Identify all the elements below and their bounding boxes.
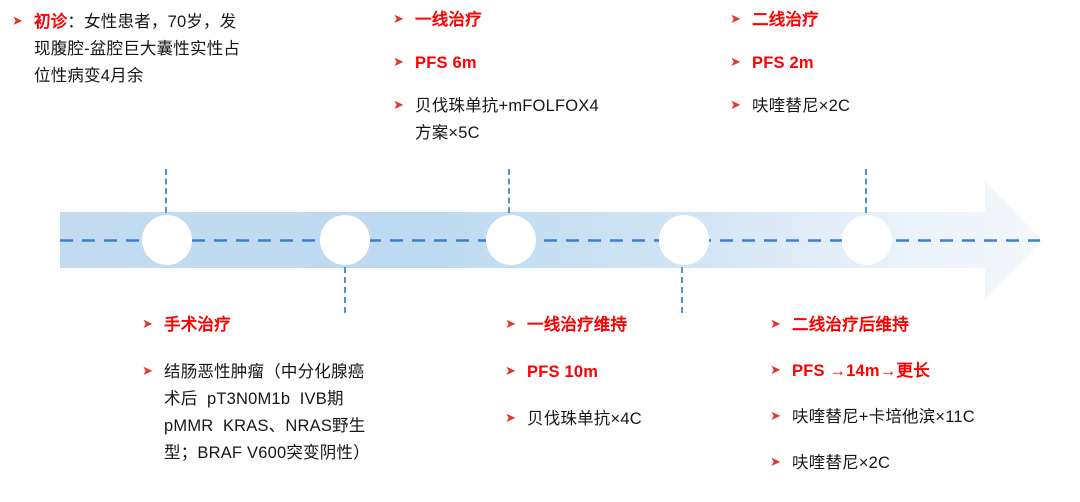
- first-line-regimen-2: 方案×5C: [415, 121, 480, 146]
- surgery-pathology-line-4: 型；BRAF V600突变阴性）: [164, 441, 370, 466]
- bullet-arrow-icon: ➤: [770, 313, 792, 337]
- first-line-maintenance-pfs: PFS 10m: [527, 360, 598, 385]
- timeline-node-4: [659, 215, 709, 265]
- bullet-arrow-icon: ➤: [505, 407, 527, 431]
- block-first-line-maintenance: ➤ 一线治疗维持 ➤ PFS 10m ➤ 贝伐珠单抗×4C: [505, 313, 795, 438]
- line-item: ➤ 结肠恶性肿瘤（中分化腺癌: [142, 360, 472, 385]
- block-initial-diagnosis: ➤ 初诊：女性患者，70岁，发 ➤ 现腹腔-盆腔巨大囊性实性占 ➤ 位性病变4月…: [12, 10, 362, 91]
- second-line-regimen: 呋喹替尼×2C: [752, 94, 850, 119]
- line-item: ➤ 二线治疗: [730, 8, 1030, 33]
- surgery-title: 手术治疗: [164, 313, 231, 338]
- line-item: ➤ 位性病变4月余: [12, 64, 362, 89]
- initial-diagnosis-line-2: 现腹腔-盆腔巨大囊性实性占: [34, 37, 240, 62]
- bullet-arrow-icon: ➤: [505, 313, 527, 337]
- line-item: ➤ 方案×5C: [393, 121, 713, 146]
- surgery-pathology-line-3: pMMR KRAS、NRAS野生: [164, 414, 365, 439]
- bullet-arrow-icon: ➤: [770, 451, 792, 475]
- timeline-node-1: [142, 215, 192, 265]
- second-line-maintenance-title: 二线治疗后维持: [792, 313, 909, 338]
- bullet-arrow-icon: ➤: [393, 94, 415, 118]
- line-item: ➤ 术后 pT3N0M1b IVB期: [142, 387, 472, 412]
- timeline-node-5: [842, 215, 892, 265]
- second-line-pfs: PFS 2m: [752, 51, 814, 76]
- bullet-arrow-icon: ➤: [393, 51, 415, 75]
- line-item: ➤ 一线治疗: [393, 8, 713, 33]
- initial-diagnosis-heading: 初诊: [34, 13, 67, 31]
- surgery-pathology-line-2: 术后 pT3N0M1b IVB期: [164, 387, 344, 412]
- block-second-line-maintenance: ➤ 二线治疗后维持 ➤ PFS →14m→更长 ➤ 呋喹替尼+卡培他滨×11C …: [770, 313, 1070, 482]
- bullet-arrow-icon: ➤: [730, 8, 752, 32]
- second-line-maintenance-regimen-1: 呋喹替尼+卡培他滨×11C: [792, 405, 975, 430]
- first-line-title: 一线治疗: [415, 8, 482, 33]
- connector-up-node-5: [865, 169, 867, 213]
- first-line-pfs: PFS 6m: [415, 51, 477, 76]
- line-item: ➤ PFS 10m: [505, 360, 795, 385]
- connector-down-node-4: [681, 267, 683, 313]
- connector-up-node-1: [165, 169, 167, 213]
- bullet-arrow-icon: ➤: [393, 8, 415, 32]
- first-line-regimen-1: 贝伐珠单抗+mFOLFOX4: [415, 94, 599, 119]
- line-item: ➤ 现腹腔-盆腔巨大囊性实性占: [12, 37, 362, 62]
- initial-diagnosis-line-3: 位性病变4月余: [34, 64, 144, 89]
- line-item: ➤ PFS →14m→更长: [770, 359, 1070, 384]
- second-line-title: 二线治疗: [752, 8, 819, 33]
- line-item: ➤ PFS 6m: [393, 51, 713, 76]
- block-surgery: ➤ 手术治疗 ➤ 结肠恶性肿瘤（中分化腺癌 ➤ 术后 pT3N0M1b IVB期…: [142, 313, 472, 468]
- timeline-arrow-shape: [60, 181, 1043, 299]
- bullet-arrow-icon: ➤: [770, 405, 792, 429]
- line-item: ➤ pMMR KRAS、NRAS野生: [142, 414, 472, 439]
- line-item: ➤ 初诊：女性患者，70岁，发: [12, 10, 362, 35]
- line-item: ➤ 型；BRAF V600突变阴性）: [142, 441, 472, 466]
- line-item: ➤ 呋喹替尼×2C: [770, 451, 1070, 476]
- bullet-arrow-icon: ➤: [505, 360, 527, 384]
- line-item: ➤ 贝伐珠单抗+mFOLFOX4: [393, 94, 713, 119]
- connector-down-node-2: [344, 267, 346, 313]
- bullet-arrow-icon: ➤: [770, 359, 792, 383]
- second-line-maintenance-regimen-2: 呋喹替尼×2C: [792, 451, 890, 476]
- bullet-arrow-icon: ➤: [12, 10, 34, 34]
- initial-diagnosis-rest: ：女性患者，70岁，发: [67, 13, 236, 31]
- line-item: ➤ 手术治疗: [142, 313, 472, 338]
- line-item: ➤ 二线治疗后维持: [770, 313, 1070, 338]
- bullet-arrow-icon: ➤: [730, 51, 752, 75]
- connector-up-node-3: [508, 169, 510, 213]
- surgery-pathology-line-1: 结肠恶性肿瘤（中分化腺癌: [164, 360, 364, 385]
- bullet-arrow-icon: ➤: [142, 360, 164, 384]
- bullet-arrow-icon: ➤: [142, 313, 164, 337]
- first-line-maintenance-regimen: 贝伐珠单抗×4C: [527, 407, 642, 432]
- first-line-maintenance-title: 一线治疗维持: [527, 313, 627, 338]
- line-item: ➤ 贝伐珠单抗×4C: [505, 407, 795, 432]
- block-first-line-treatment: ➤ 一线治疗 ➤ PFS 6m ➤ 贝伐珠单抗+mFOLFOX4 ➤ 方案×5C: [393, 8, 713, 148]
- line-item: ➤ PFS 2m: [730, 51, 1030, 76]
- line-item: ➤ 呋喹替尼×2C: [730, 94, 1030, 119]
- block-second-line-treatment: ➤ 二线治疗 ➤ PFS 2m ➤ 呋喹替尼×2C: [730, 8, 1030, 125]
- initial-diagnosis-line-1: 初诊：女性患者，70岁，发: [34, 10, 236, 35]
- timeline-node-2: [320, 215, 370, 265]
- timeline-node-3: [486, 215, 536, 265]
- line-item: ➤ 一线治疗维持: [505, 313, 795, 338]
- line-item: ➤ 呋喹替尼+卡培他滨×11C: [770, 405, 1070, 430]
- second-line-maintenance-pfs: PFS →14m→更长: [792, 359, 930, 384]
- bullet-arrow-icon: ➤: [730, 94, 752, 118]
